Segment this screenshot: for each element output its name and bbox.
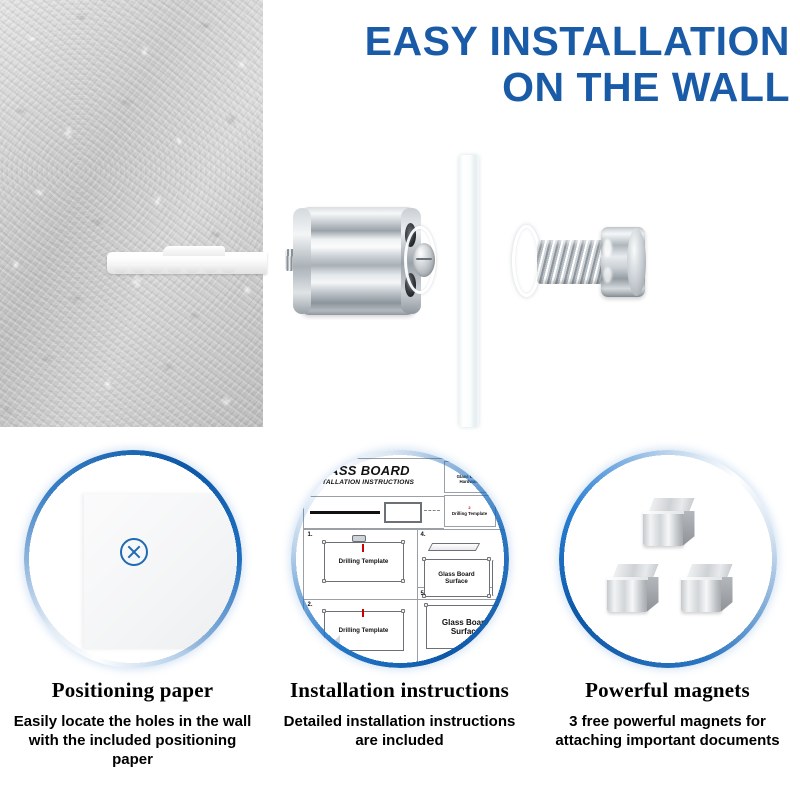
- sheet-parts-list: 1 Glass BoardHardware 2 Drilling Templat…: [444, 459, 509, 529]
- step-4-panel: Glass BoardSurface: [424, 559, 490, 597]
- sheet-divider: [304, 529, 509, 530]
- tool-cell-icon: [497, 461, 509, 479]
- standoff-plank-icon: [427, 543, 479, 551]
- red-arrow-icon: [362, 609, 364, 617]
- anchor-barb: [113, 264, 128, 273]
- sheet-overview-cell: [304, 497, 444, 529]
- sheet-board-thumb: [384, 502, 422, 523]
- sheet-title: GLASS BOARD: [311, 463, 410, 478]
- page-curl-icon: [324, 635, 340, 651]
- red-arrow-icon: [362, 544, 364, 552]
- anchor-barb: [221, 264, 236, 273]
- feature-title: Powerful magnets: [535, 678, 800, 703]
- magnet-front-face: [681, 577, 722, 612]
- magnet-side-face: [721, 577, 733, 612]
- step-number: 2.: [308, 602, 313, 608]
- barrel-cap-left: [293, 208, 311, 314]
- instruction-sheet: GLASS BOARD INSTALLATION INSTRUCTIONS 1 …: [303, 458, 509, 668]
- step-5-panel: Glass BoardSurface: [426, 605, 506, 649]
- magnet-cube-icon: [643, 498, 695, 546]
- panel-corner: [487, 594, 491, 598]
- step-number: 5.: [421, 591, 426, 597]
- panel-corner: [401, 540, 405, 544]
- tool-cell-icon: [505, 494, 509, 505]
- parts-box-2: 2 Drilling Template: [444, 495, 496, 527]
- magnet-front-face: [643, 511, 684, 546]
- cap-screw-thread: [537, 240, 607, 284]
- parts-box-label: Drilling Template: [452, 511, 487, 516]
- feature-title: Positioning paper: [0, 678, 265, 703]
- magnet-side-face: [683, 511, 695, 546]
- standoff-barrel-part: [293, 207, 421, 315]
- infographic-canvas: EASY INSTALLATION ON THE WALL Positionin…: [0, 0, 800, 800]
- magnet-front-face: [607, 577, 648, 612]
- feature-installation-instructions: GLASS BOARD INSTALLATION INSTRUCTIONS 1 …: [267, 446, 532, 800]
- parts-box-1: 1 Glass BoardHardware: [444, 461, 496, 493]
- parts-box-label: Glass BoardHardware: [457, 474, 483, 484]
- tool-cell-icon: [497, 494, 504, 505]
- headline-line-2: ON THE WALL: [300, 64, 790, 110]
- feature-description: Detailed installation instructions are i…: [280, 712, 520, 750]
- magnet-edge: [643, 511, 684, 514]
- magnet-edge: [681, 577, 722, 580]
- anchor-barb: [167, 264, 182, 273]
- panel-corner: [424, 603, 428, 607]
- anchor-barb: [131, 264, 146, 273]
- sheet-rule: [310, 511, 380, 514]
- headline-line-1: EASY INSTALLATION: [365, 18, 790, 64]
- anchor-barb: [185, 264, 200, 273]
- feature-circle-art: GLASS BOARD INSTALLATION INSTRUCTIONS 1 …: [291, 450, 509, 668]
- magnet-edge: [607, 577, 648, 580]
- cap-screw-part: [537, 227, 647, 297]
- feature-positioning-paper: Positioning paper Easily locate the hole…: [0, 446, 265, 800]
- feature-circle-art: [24, 450, 242, 668]
- panel-corner: [422, 557, 426, 561]
- cap-screw-highlight: [603, 239, 612, 257]
- anchor-barb: [149, 264, 164, 273]
- glass-panel-edge: [459, 155, 479, 427]
- feature-description: Easily locate the holes in the wall with…: [13, 712, 253, 769]
- positioning-paper-sheet: [84, 494, 242, 649]
- sheet-divider: [417, 529, 418, 668]
- panel-corner: [401, 579, 405, 583]
- feature-description: 3 free powerful magnets for attaching im…: [543, 712, 793, 750]
- cap-screw-face: [627, 228, 646, 296]
- feature-powerful-magnets: Powerful magnets 3 free powerful magnets…: [535, 446, 800, 800]
- sheet-divider: [304, 599, 509, 600]
- step-number: 1.: [308, 532, 313, 538]
- crosshair-x-icon: [120, 538, 148, 566]
- feature-row: Positioning paper Easily locate the hole…: [0, 446, 800, 800]
- panel-corner: [322, 579, 326, 583]
- drill-icon: [352, 535, 366, 542]
- sheet-dimension-line: [424, 510, 440, 511]
- mounting-screw-head: [413, 243, 435, 277]
- wall-texture-background: [0, 0, 263, 427]
- barrel-body: [299, 207, 417, 315]
- screw-tool-icon: [499, 486, 507, 488]
- level-tool-icon: [501, 470, 509, 472]
- magnet-top-face: [649, 498, 695, 512]
- sheet-header: GLASS BOARD INSTALLATION INSTRUCTIONS: [304, 459, 444, 497]
- panel-corner: [322, 609, 326, 613]
- wall-anchor-part: [107, 248, 267, 278]
- feature-circle-art: [559, 450, 777, 668]
- panel-corner: [322, 540, 326, 544]
- sheet-subtitle: INSTALLATION INSTRUCTIONS: [311, 479, 415, 486]
- magnet-cube-icon: [681, 564, 733, 612]
- magnet-top-face: [613, 564, 659, 578]
- step-1-panel: Drilling Template: [324, 542, 404, 582]
- anchor-barb: [203, 264, 218, 273]
- anchor-fin: [163, 246, 225, 256]
- feature-title: Installation instructions: [267, 678, 532, 703]
- panel-corner: [487, 557, 491, 561]
- panel-corner: [503, 603, 507, 607]
- cap-screw-highlight: [603, 267, 612, 283]
- magnet-top-face: [687, 564, 733, 578]
- magnet-side-face: [647, 577, 659, 612]
- panel-corner: [401, 609, 405, 613]
- wedge-icon: [492, 560, 509, 596]
- step-number: 4.: [421, 532, 426, 538]
- magnet-cube-icon: [607, 564, 659, 612]
- headline: EASY INSTALLATION ON THE WALL: [300, 18, 790, 110]
- tool-cell-icon: [497, 480, 508, 493]
